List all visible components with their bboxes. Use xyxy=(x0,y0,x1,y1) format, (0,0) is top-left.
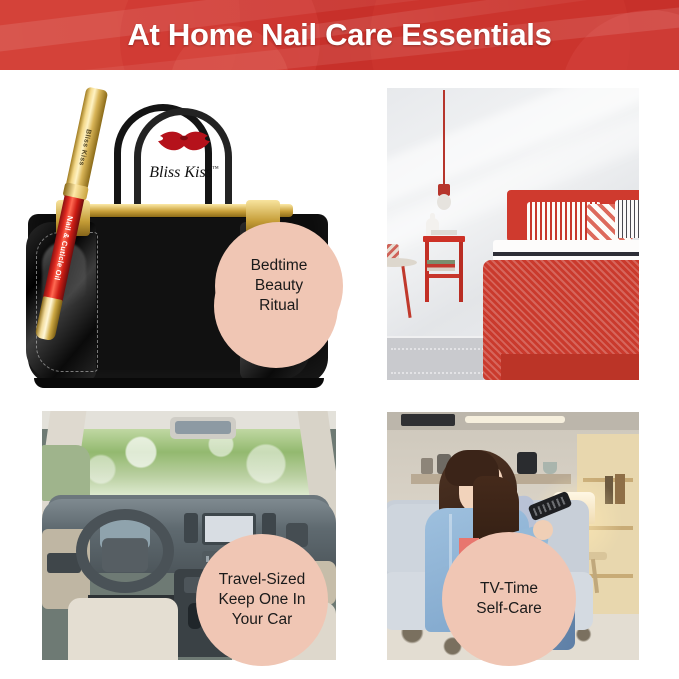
rearview-mirror xyxy=(170,417,236,439)
air-vent-center-left xyxy=(184,513,198,543)
badge-travel-sized: Travel-Sized Keep One In Your Car xyxy=(196,534,328,666)
steering-wheel xyxy=(76,509,174,593)
trademark-mark: ™ xyxy=(212,165,219,173)
led-strip-light xyxy=(465,416,565,423)
pillow-ticking xyxy=(615,200,639,238)
badge-line: Ritual xyxy=(259,296,299,316)
white-vase xyxy=(426,218,439,238)
counter-cup xyxy=(543,462,557,474)
badge-line: Your Car xyxy=(232,610,293,630)
nightstand-books-top xyxy=(431,230,457,235)
counter-jar-1 xyxy=(421,458,433,474)
brand-name: Bliss Kiss™ xyxy=(134,164,234,182)
page-title: At Home Nail Care Essentials xyxy=(0,0,679,70)
range-hood xyxy=(401,414,455,426)
badge-line: Self-Care xyxy=(476,599,541,619)
nightstand-leg-right xyxy=(459,242,463,302)
infographic-page: At Home Nail Care Essentials Bliss Kiss™ xyxy=(0,0,679,679)
handbag-base xyxy=(34,378,324,388)
bed-skirt xyxy=(501,354,639,380)
side-stool xyxy=(387,258,417,318)
stool-leg-right xyxy=(401,266,411,318)
bed xyxy=(483,190,639,380)
badge-line: TV-Time xyxy=(480,579,538,599)
car-window-left xyxy=(42,445,90,501)
nightstand-leg-left xyxy=(425,242,429,302)
pendant-cord xyxy=(443,90,445,188)
bed-sheet xyxy=(493,240,639,262)
bliss-kiss-logo: Bliss Kiss™ xyxy=(134,130,234,182)
lips-icon xyxy=(156,130,212,156)
badge-line: Beauty xyxy=(255,276,303,296)
badge-bedtime-ritual: Bedtime Beauty Ritual xyxy=(215,222,343,350)
nightstand-books-shelf xyxy=(427,260,455,271)
panel-bedtime-ritual xyxy=(340,72,679,402)
electric-kettle xyxy=(517,452,537,474)
bedroom-photo xyxy=(387,88,639,380)
badge-line: Keep One In xyxy=(218,590,305,610)
pendant-bulb-icon xyxy=(437,194,451,210)
nightstand-shelf xyxy=(426,274,462,278)
badge-line: Travel-Sized xyxy=(219,570,305,590)
badge-line: Bedtime xyxy=(251,256,308,276)
badge-tv-time: TV-Time Self-Care xyxy=(442,532,576,666)
pen-gold-cap: Bliss Kiss xyxy=(66,86,108,188)
car-seat-driver xyxy=(68,598,178,660)
